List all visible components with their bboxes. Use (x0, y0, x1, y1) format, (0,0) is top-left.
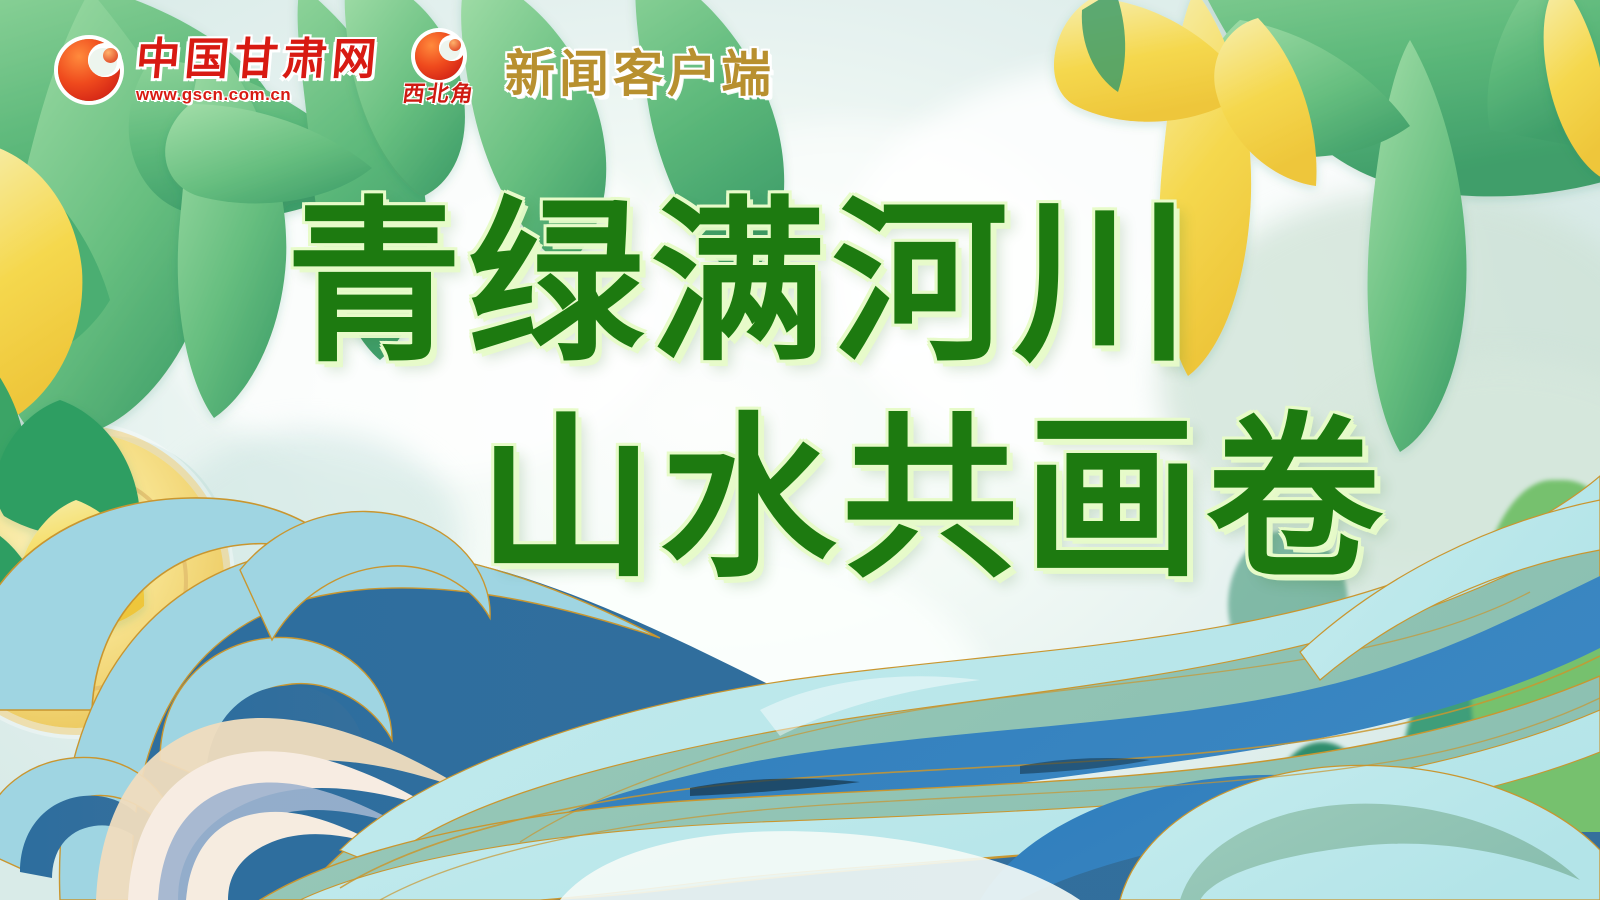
site-url: www.gscn.com.cn (136, 86, 381, 103)
chinese-wave-pattern (0, 380, 1600, 900)
xibeijiao-brand: 西北角 (403, 32, 475, 108)
logo-bar[interactable]: 中国甘肃网 www.gscn.com.cn 西北角 新闻客户端 (58, 32, 775, 108)
site-name-cn: 中国甘肃网 (134, 38, 383, 82)
promo-banner: 中国甘肃网 www.gscn.com.cn 西北角 新闻客户端 青绿满河川 山水… (0, 0, 1600, 900)
emblem-dot (449, 39, 461, 51)
client-app-label: 新闻客户端 (505, 34, 775, 106)
site-brand: 中国甘肃网 www.gscn.com.cn (136, 38, 381, 103)
gansu-swirl-emblem-icon (58, 39, 120, 101)
xibeijiao-label: 西北角 (401, 76, 478, 108)
emblem-dot (103, 48, 118, 63)
xibeijiao-swirl-emblem-icon (415, 32, 463, 80)
